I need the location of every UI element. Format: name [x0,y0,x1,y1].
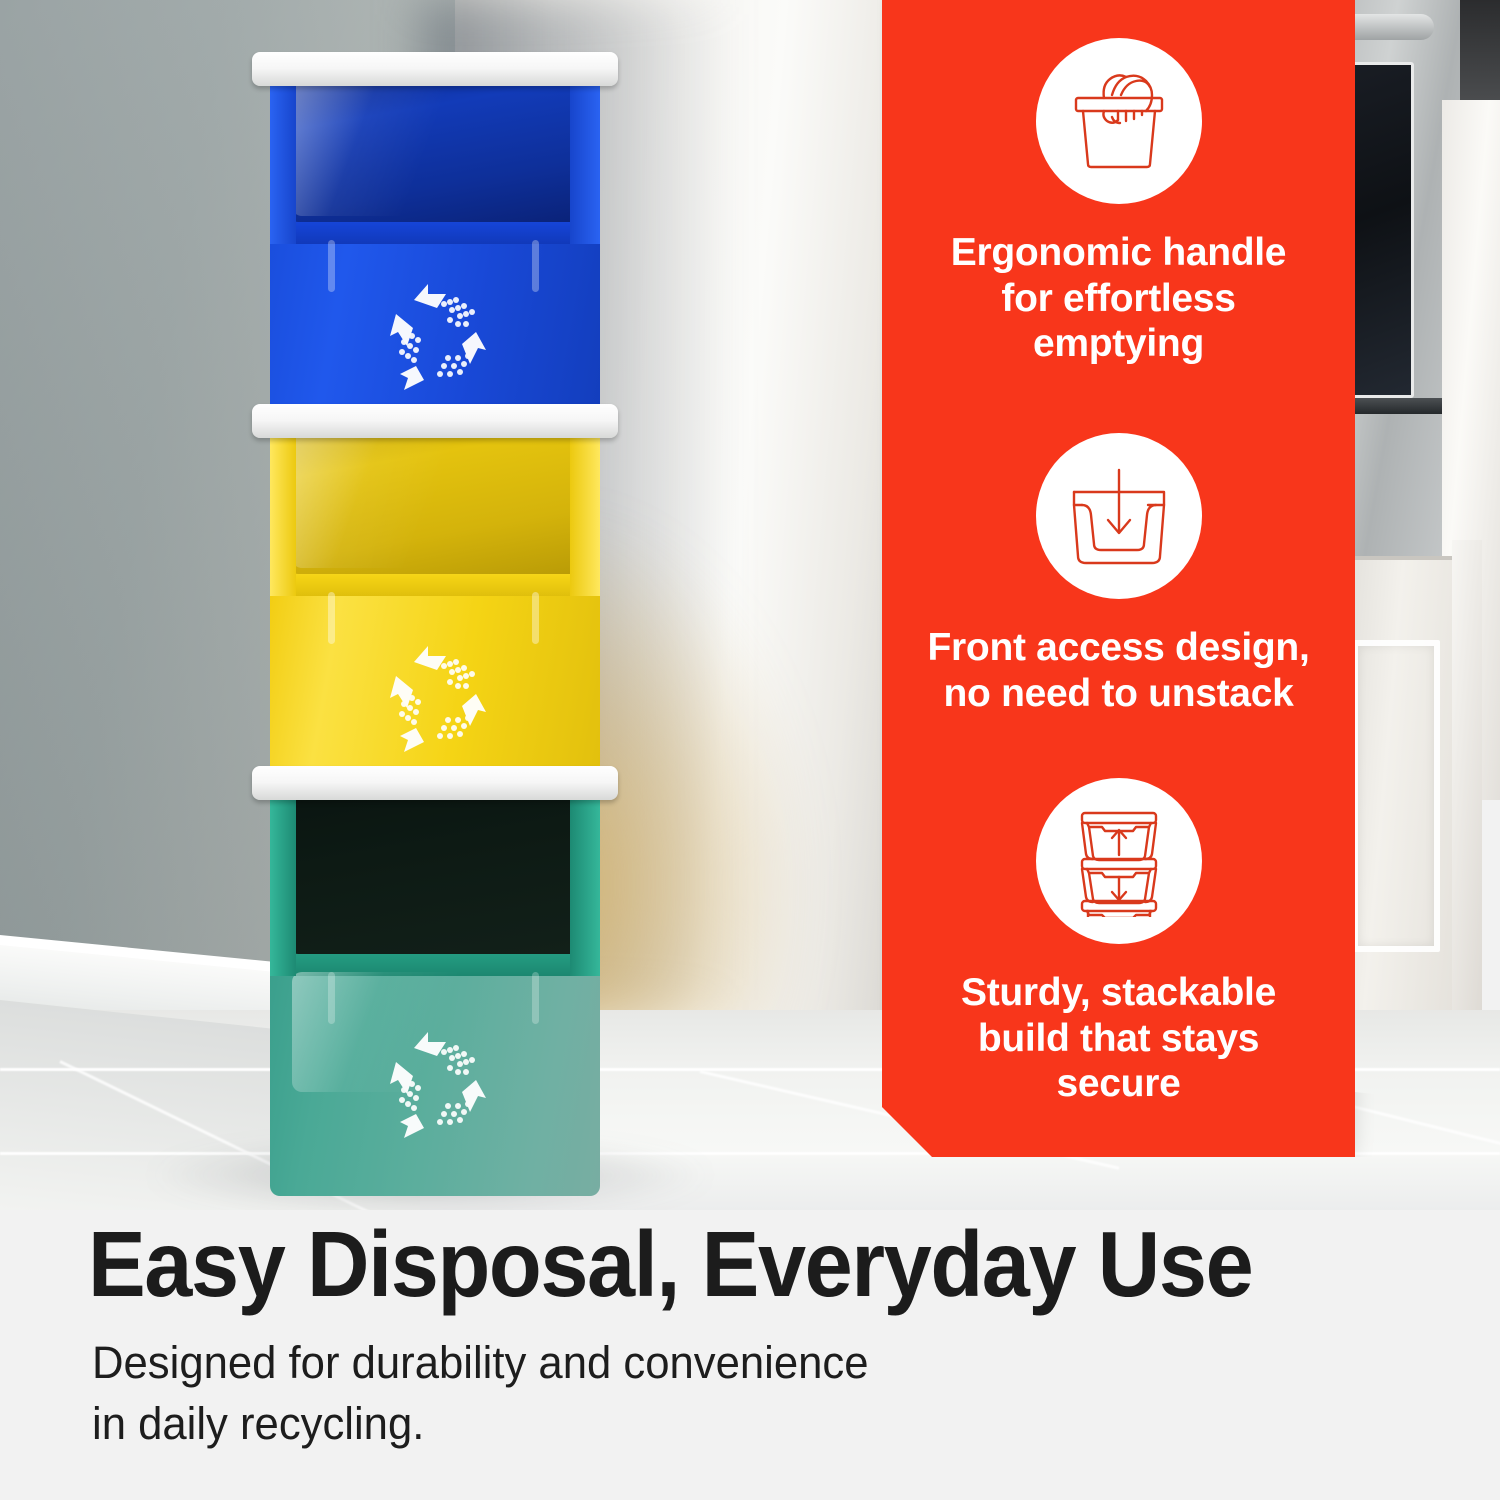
yellow-bin-rib [532,592,539,644]
feature-text: Ergonomic handle for effortless emptying [882,230,1355,367]
feature-icon-badge [1036,778,1202,944]
feature-line: for effortless [910,276,1327,322]
feature-item-stackable: Sturdy, stackable build that stays secur… [882,778,1355,1107]
subcopy-line: in daily recycling. [92,1394,1159,1455]
bin-front-access-arrow-icon [1060,460,1178,572]
green-bin-rib [328,972,335,1024]
yellow-bin-right-wall [570,422,600,596]
blue-bin-rib [532,240,539,292]
stacked-bins-arrows-icon [1060,805,1178,917]
stacked-recycling-bins [270,52,630,1182]
yellow-bin-rib [328,592,335,644]
feature-text: Sturdy, stackable build that stays secur… [882,970,1355,1107]
green-bin-rib [532,972,539,1024]
cabinet-side [1452,540,1482,1050]
recycle-symbol-icon [366,1028,506,1143]
yellow-bin-left-wall [270,422,296,596]
feature-icon-badge [1036,433,1202,599]
blue-bin-right-wall [570,70,600,244]
recycle-symbol-icon [366,642,506,757]
feature-line: emptying [910,321,1327,367]
blue-bin-left-wall [270,70,296,244]
feature-line: secure [910,1061,1327,1107]
feature-line: build that stays [910,1016,1327,1062]
feature-line: Front access design, [910,625,1327,671]
feature-line: Sturdy, stackable [910,970,1327,1016]
feature-panel: Ergonomic handle for effortless emptying [882,0,1355,1157]
feature-item-front-access: Front access design, no need to unstack [882,433,1355,716]
blue-bin-opening [284,70,586,222]
blue-bin-rim [252,52,618,86]
feature-icon-badge [1036,38,1202,204]
recycle-symbol-icon [366,280,506,395]
hand-gripping-bin-icon [1060,65,1178,177]
feature-line: Ergonomic handle [910,230,1327,276]
green-bin-opening [284,784,586,954]
yellow-bin-opening [284,422,586,574]
green-bin-right-wall [570,784,600,976]
product-marketing-image: Ergonomic handle for effortless emptying [0,0,1500,1500]
green-bin-rim [252,766,618,800]
blue-bin-rib [328,240,335,292]
feature-text: Front access design, no need to unstack [882,625,1355,716]
page-headline: Easy Disposal, Everyday Use [88,1218,1325,1311]
yellow-bin-rim [252,404,618,438]
green-bin-left-wall [270,784,296,976]
page-subcopy: Designed for durability and convenience … [92,1333,1159,1455]
cabinet-door-panel [1352,640,1440,952]
feature-line: no need to unstack [910,671,1327,717]
subcopy-line: Designed for durability and convenience [92,1333,1159,1394]
feature-item-ergonomic-handle: Ergonomic handle for effortless emptying [882,38,1355,367]
